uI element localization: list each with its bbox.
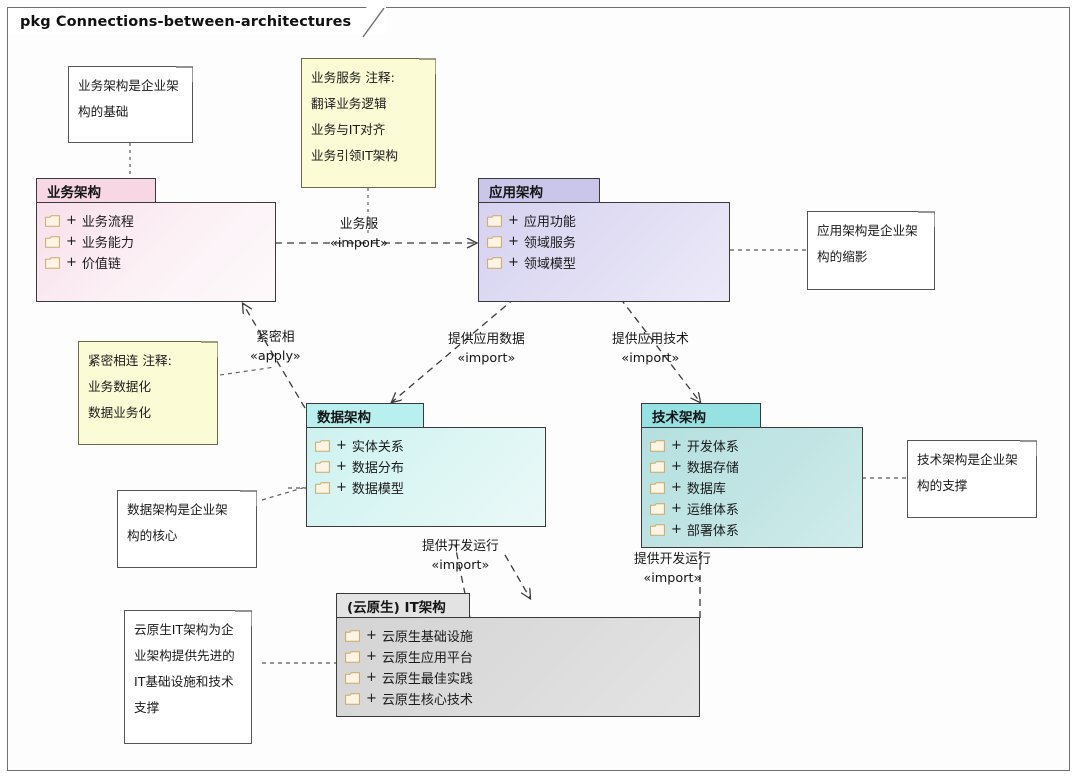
note-fold-line bbox=[234, 610, 252, 628]
note-business[interactable]: 业务架构是企业架 构的基础 bbox=[68, 66, 193, 143]
edge-label-data-business: 紧密相 «apply» bbox=[250, 328, 301, 366]
list-item[interactable]: + 数据存储 bbox=[650, 456, 854, 477]
package-technology[interactable]: 技术架构 + 开发体系 + 数据存储 + bbox=[641, 403, 863, 548]
list-item-label: 数据分布 bbox=[352, 457, 404, 476]
note-data[interactable]: 数据架构是企业架 构的核心 bbox=[117, 490, 257, 568]
folder-icon bbox=[345, 651, 360, 663]
note-text-line: 业务架构是企业架 bbox=[78, 73, 183, 99]
note-text-line: 业务服务 注释: bbox=[311, 65, 426, 91]
list-item[interactable]: + 数据模型 bbox=[315, 477, 537, 498]
folder-icon bbox=[45, 236, 60, 248]
edge-label-application-technology: 提供应用技术 «import» bbox=[612, 330, 689, 368]
folder-icon bbox=[315, 461, 330, 473]
list-item[interactable]: + 业务流程 bbox=[45, 210, 267, 231]
list-item[interactable]: + 应用功能 bbox=[487, 210, 721, 231]
note-fold-line bbox=[1019, 440, 1037, 458]
list-item[interactable]: + 业务能力 bbox=[45, 231, 267, 252]
list-item[interactable]: + 领域服务 bbox=[487, 231, 721, 252]
package-data-body: + 实体关系 + 数据分布 + 数据模型 bbox=[306, 427, 546, 527]
note-fold-line bbox=[239, 490, 257, 508]
visibility-marker: + bbox=[671, 459, 682, 474]
list-item-label: 开发体系 bbox=[687, 436, 739, 455]
package-business-header: 业务架构 bbox=[36, 178, 156, 203]
visibility-marker: + bbox=[508, 255, 519, 270]
note-text-line: 技术架构是企业架 bbox=[917, 447, 1027, 473]
note-text-line: 构的核心 bbox=[127, 523, 247, 549]
visibility-marker: + bbox=[671, 501, 682, 516]
package-technology-title: 技术架构 bbox=[652, 406, 706, 426]
list-item[interactable]: + 云原生应用平台 bbox=[345, 646, 691, 667]
edge-label-application-data: 提供应用数据 «import» bbox=[448, 330, 525, 368]
list-item[interactable]: + 云原生最佳实践 bbox=[345, 667, 691, 688]
edge-stereotype: «import» bbox=[330, 234, 388, 253]
folder-icon bbox=[315, 482, 330, 494]
note-fold-line bbox=[200, 341, 218, 359]
list-item[interactable]: + 领域模型 bbox=[487, 252, 721, 273]
list-item[interactable]: + 价值链 bbox=[45, 252, 267, 273]
tab-corner-line bbox=[359, 8, 385, 38]
visibility-marker: + bbox=[336, 480, 347, 495]
note-text-line: 业务数据化 bbox=[88, 374, 208, 400]
package-business-body: + 业务流程 + 业务能力 + 价值链 bbox=[36, 202, 276, 302]
package-application-header: 应用架构 bbox=[478, 178, 600, 203]
diagram-canvas: pkg Connections-between-architectures bbox=[0, 0, 1080, 779]
note-text-line: 业架构提供先进的 bbox=[134, 643, 242, 669]
folder-icon bbox=[650, 503, 665, 515]
visibility-marker: + bbox=[66, 255, 77, 270]
list-item-label: 运维体系 bbox=[687, 499, 739, 518]
note-business-service[interactable]: 业务服务 注释: 翻译业务逻辑 业务与IT对齐 业务引领IT架构 bbox=[301, 58, 436, 188]
note-text-line: 云原生IT架构为企 bbox=[134, 617, 242, 643]
edge-name: 提供开发运行 bbox=[634, 550, 711, 569]
note-text-line: 紧密相连 注释: bbox=[88, 348, 208, 374]
package-technology-header: 技术架构 bbox=[641, 403, 761, 428]
folder-icon bbox=[315, 440, 330, 452]
edge-label-business-application: 业务服 «import» bbox=[330, 215, 388, 253]
note-tight-coupling[interactable]: 紧密相连 注释: 业务数据化 数据业务化 bbox=[78, 341, 218, 445]
list-item-label: 领域服务 bbox=[524, 232, 576, 251]
visibility-marker: + bbox=[671, 480, 682, 495]
visibility-marker: + bbox=[671, 522, 682, 537]
edge-label-cloud-technology: 提供开发运行 «import» bbox=[634, 550, 711, 588]
visibility-marker: + bbox=[66, 213, 77, 228]
note-text-line: IT基础设施和技术 bbox=[134, 669, 242, 695]
list-item-label: 领域模型 bbox=[524, 253, 576, 272]
visibility-marker: + bbox=[366, 670, 377, 685]
folder-icon bbox=[45, 215, 60, 227]
package-business-title: 业务架构 bbox=[47, 181, 101, 201]
list-item-label: 云原生最佳实践 bbox=[382, 668, 473, 687]
edge-stereotype: «import» bbox=[448, 349, 525, 368]
package-application-body: + 应用功能 + 领域服务 + 领域模型 bbox=[478, 202, 730, 302]
note-text-line: 应用架构是企业架 bbox=[817, 218, 925, 244]
folder-icon bbox=[487, 236, 502, 248]
note-text-line: 构的支撑 bbox=[917, 473, 1027, 499]
package-frame-title-tab: pkg Connections-between-architectures bbox=[7, 7, 386, 35]
package-data-title: 数据架构 bbox=[317, 406, 371, 426]
package-application-title: 应用架构 bbox=[489, 181, 543, 201]
visibility-marker: + bbox=[66, 234, 77, 249]
visibility-marker: + bbox=[366, 649, 377, 664]
list-item-label: 业务能力 bbox=[82, 232, 134, 251]
list-item-label: 云原生基础设施 bbox=[382, 626, 473, 645]
list-item[interactable]: + 部署体系 bbox=[650, 519, 854, 540]
folder-icon bbox=[650, 461, 665, 473]
visibility-marker: + bbox=[508, 234, 519, 249]
list-item-label: 实体关系 bbox=[352, 436, 404, 455]
list-item[interactable]: + 数据库 bbox=[650, 477, 854, 498]
visibility-marker: + bbox=[508, 213, 519, 228]
folder-icon bbox=[345, 672, 360, 684]
edge-stereotype: «import» bbox=[612, 349, 689, 368]
note-text-line: 构的基础 bbox=[78, 99, 183, 125]
note-fold-line bbox=[175, 66, 193, 84]
package-cloudnative-body: + 云原生基础设施 + 云原生应用平台 + 云原生最佳实践 bbox=[336, 617, 700, 717]
note-technology[interactable]: 技术架构是企业架 构的支撑 bbox=[907, 440, 1037, 518]
package-data[interactable]: 数据架构 + 实体关系 + 数据分布 + bbox=[306, 403, 546, 527]
edge-name: 紧密相 bbox=[250, 328, 301, 347]
package-cloudnative[interactable]: (云原生) IT架构 + 云原生基础设施 + 云原生应用平台 bbox=[336, 593, 700, 717]
folder-icon bbox=[650, 440, 665, 452]
list-item-label: 云原生核心技术 bbox=[382, 689, 473, 708]
edge-name: 提供应用技术 bbox=[612, 330, 689, 349]
note-text-line: 支撑 bbox=[134, 695, 242, 721]
list-item-label: 数据模型 bbox=[352, 478, 404, 497]
list-item[interactable]: + 运维体系 bbox=[650, 498, 854, 519]
note-text-line: 业务与IT对齐 bbox=[311, 117, 426, 143]
list-item[interactable]: + 云原生核心技术 bbox=[345, 688, 691, 709]
list-item[interactable]: + 数据分布 bbox=[315, 456, 537, 477]
folder-icon bbox=[487, 257, 502, 269]
list-item-label: 业务流程 bbox=[82, 211, 134, 230]
visibility-marker: + bbox=[336, 438, 347, 453]
note-text-line: 数据架构是企业架 bbox=[127, 497, 247, 523]
edge-stereotype: «import» bbox=[422, 556, 499, 575]
note-fold-line bbox=[917, 211, 935, 229]
list-item-label: 部署体系 bbox=[687, 520, 739, 539]
package-data-header: 数据架构 bbox=[306, 403, 424, 428]
folder-icon bbox=[45, 257, 60, 269]
folder-icon bbox=[650, 524, 665, 536]
package-cloudnative-header: (云原生) IT架构 bbox=[336, 593, 470, 618]
package-technology-body: + 开发体系 + 数据存储 + 数据库 + bbox=[641, 427, 863, 548]
visibility-marker: + bbox=[336, 459, 347, 474]
list-item-label: 价值链 bbox=[82, 253, 121, 272]
list-item-label: 应用功能 bbox=[524, 211, 576, 230]
note-text-line: 业务引领IT架构 bbox=[311, 143, 426, 169]
edge-name: 提供应用数据 bbox=[448, 330, 525, 349]
edge-name: 业务服 bbox=[330, 215, 388, 234]
note-text-line: 构的缩影 bbox=[817, 244, 925, 270]
visibility-marker: + bbox=[366, 628, 377, 643]
folder-icon bbox=[345, 630, 360, 642]
edge-name: 提供开发运行 bbox=[422, 537, 499, 556]
folder-icon bbox=[650, 482, 665, 494]
note-text-line: 翻译业务逻辑 bbox=[311, 91, 426, 117]
folder-icon bbox=[487, 215, 502, 227]
list-item-label: 云原生应用平台 bbox=[382, 647, 473, 666]
note-cloudnative[interactable]: 云原生IT架构为企 业架构提供先进的 IT基础设施和技术 支撑 bbox=[124, 610, 252, 744]
package-frame-title: pkg Connections-between-architectures bbox=[20, 14, 351, 30]
note-fold-line bbox=[418, 58, 436, 76]
folder-icon bbox=[345, 693, 360, 705]
edge-stereotype: «import» bbox=[634, 569, 711, 588]
list-item[interactable]: + 云原生基础设施 bbox=[345, 625, 691, 646]
edge-stereotype: «apply» bbox=[250, 347, 301, 366]
edge-label-cloud-data: 提供开发运行 «import» bbox=[422, 537, 499, 575]
list-item-label: 数据存储 bbox=[687, 457, 739, 476]
list-item[interactable]: + 开发体系 bbox=[650, 435, 854, 456]
visibility-marker: + bbox=[366, 691, 377, 706]
package-business[interactable]: 业务架构 + 业务流程 + 业务能力 + bbox=[36, 178, 276, 302]
list-item-label: 数据库 bbox=[687, 478, 726, 497]
visibility-marker: + bbox=[671, 438, 682, 453]
package-application[interactable]: 应用架构 + 应用功能 + 领域服务 + bbox=[478, 178, 730, 302]
list-item[interactable]: + 实体关系 bbox=[315, 435, 537, 456]
note-application[interactable]: 应用架构是企业架 构的缩影 bbox=[807, 211, 935, 290]
note-text-line: 数据业务化 bbox=[88, 400, 208, 426]
package-cloudnative-title: (云原生) IT架构 bbox=[347, 596, 446, 616]
